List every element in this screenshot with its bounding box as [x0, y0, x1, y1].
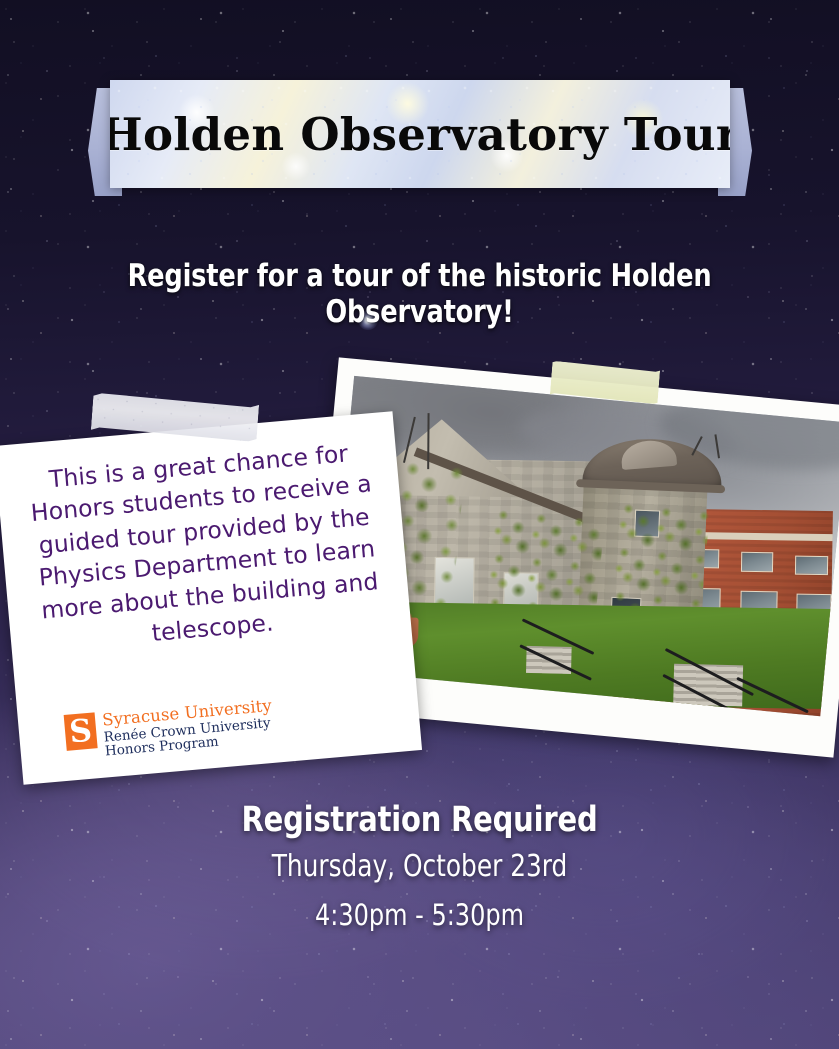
event-details: Registration Required Thursday, October …	[0, 800, 839, 932]
page-title: Holden Observatory Tour	[110, 108, 730, 161]
description-text: This is a great chance for Honors studen…	[18, 435, 394, 660]
logo-wordmark: Syracuse University Renée Crown Universi…	[102, 697, 276, 760]
banner-glitter-panel: Holden Observatory Tour	[110, 80, 730, 188]
syracuse-honors-logo: Syracuse University Renée Crown Universi…	[64, 697, 275, 763]
syracuse-s-icon	[64, 712, 98, 751]
event-time: 4:30pm - 5:30pm	[34, 898, 806, 932]
subtitle-text: Register for a tour of the historic Hold…	[34, 258, 806, 330]
brick-window	[795, 555, 828, 575]
description-note-card: This is a great chance for Honors studen…	[0, 411, 422, 785]
title-banner: Holden Observatory Tour	[88, 80, 752, 196]
event-date: Thursday, October 23rd	[34, 849, 806, 884]
registration-required-heading: Registration Required	[34, 800, 806, 840]
poster-canvas: Holden Observatory Tour Register for a t…	[0, 0, 839, 1049]
brick-window	[740, 552, 773, 572]
